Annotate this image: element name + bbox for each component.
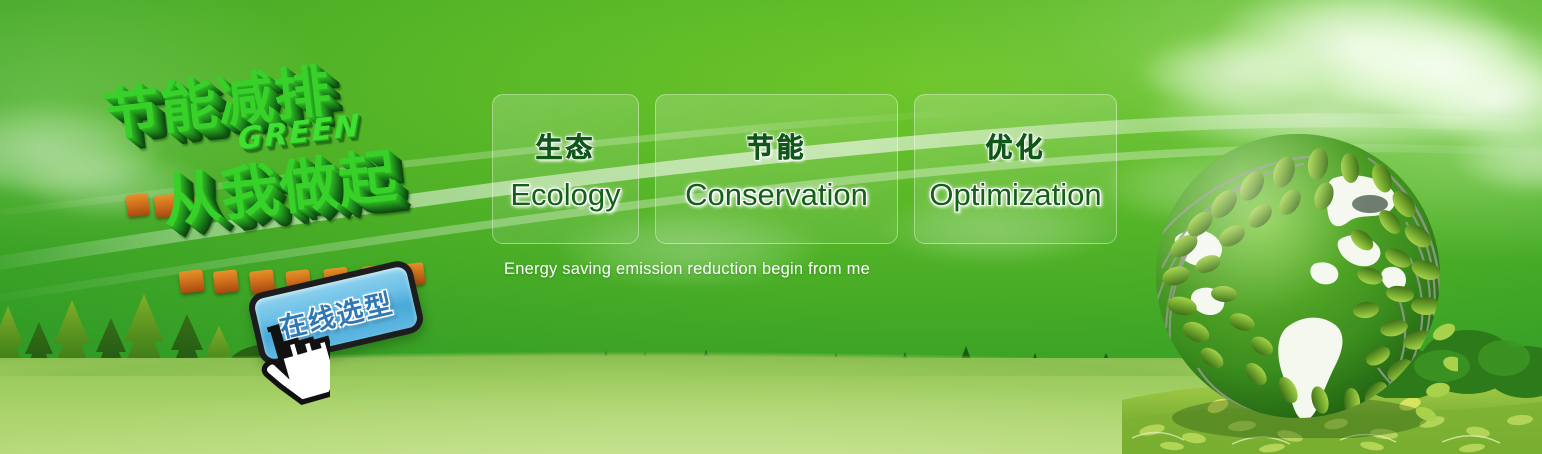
feature-card-title-cn: 生态 bbox=[536, 126, 596, 165]
headline-line-1: 节能减排 bbox=[99, 46, 335, 152]
cloud-icon bbox=[1140, 34, 1330, 108]
cloud-icon bbox=[1455, 120, 1542, 190]
feature-card-title-en: Ecology bbox=[510, 177, 620, 213]
headline-accent: GREEN bbox=[238, 108, 361, 157]
feature-card-list: 生态 Ecology 节能 Conservation 优化 Optimizati… bbox=[492, 94, 1117, 244]
cta-button-label: 在线选型 bbox=[275, 281, 397, 345]
cloud-icon bbox=[1390, 56, 1542, 138]
tree-line bbox=[0, 320, 1542, 398]
feature-card-title-cn: 节能 bbox=[747, 126, 807, 165]
feature-card-title-en: Conservation bbox=[685, 177, 868, 213]
cloud-icon bbox=[1320, 18, 1542, 114]
feature-card-ecology[interactable]: 生态 Ecology bbox=[492, 94, 639, 244]
grass-field-icon bbox=[0, 358, 1542, 454]
cloud-icon bbox=[1150, 78, 1490, 148]
ivy-covered-globe-icon bbox=[1138, 118, 1458, 438]
online-selection-button[interactable]: 在线选型 bbox=[246, 258, 426, 368]
leaf-litter-icon bbox=[1122, 334, 1542, 454]
feature-card-conservation[interactable]: 节能 Conservation bbox=[655, 94, 898, 244]
feature-card-optimization[interactable]: 优化 Optimization bbox=[914, 94, 1117, 244]
cloud-icon bbox=[0, 104, 160, 192]
bush-icon bbox=[1242, 314, 1542, 398]
cloud-icon bbox=[1100, 150, 1310, 220]
feature-card-title-cn: 优化 bbox=[986, 126, 1046, 165]
banner-tagline: Energy saving emission reduction begin f… bbox=[504, 260, 870, 279]
hero-banner: 节能减排 GREEN 从我做起 生态 Ecology 节能 Conservati… bbox=[0, 0, 1542, 454]
cloud-icon bbox=[1215, 0, 1515, 102]
headline-3d: 节能减排 GREEN 从我做起 bbox=[92, 19, 496, 291]
cta-button-surface[interactable]: 在线选型 bbox=[246, 258, 426, 368]
headline-line-2: 从我做起 bbox=[157, 129, 401, 239]
feature-card-title-en: Optimization bbox=[929, 177, 1101, 213]
cloud-icon bbox=[20, 150, 200, 214]
